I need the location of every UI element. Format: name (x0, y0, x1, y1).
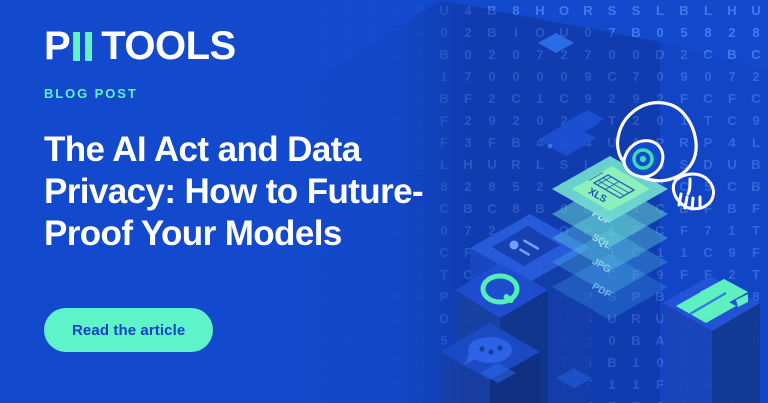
grid-char: P (696, 132, 720, 154)
grid-char: B (648, 154, 672, 176)
grid-char: 8 (0, 66, 24, 88)
card-stack-icon (538, 110, 604, 156)
grid-char: F (696, 264, 720, 286)
grid-char: 1 (600, 220, 624, 242)
grid-char: C (576, 242, 600, 264)
grid-char: 1 (600, 242, 624, 264)
grid-char: L (696, 0, 720, 22)
grid-char: 0 (648, 352, 672, 374)
grid-char: 2 (720, 374, 744, 396)
grid-char: B (600, 352, 624, 374)
grid-char: B (528, 330, 552, 352)
grid-char: P (528, 286, 552, 308)
grid-char: R (0, 22, 24, 44)
grid-char: 1 (672, 242, 696, 264)
grid-char: C (600, 66, 624, 88)
grid-char: O (528, 22, 552, 44)
grid-char: 4 (0, 154, 24, 176)
grid-char: 4 (576, 132, 600, 154)
grid-char: 2 (552, 396, 576, 403)
grid-char: L (696, 0, 720, 22)
grid-char: 0 (648, 66, 672, 88)
grid-char: F (720, 88, 744, 110)
grid-char: 0 (648, 22, 672, 44)
grid-char: U (552, 22, 576, 44)
grid-char: 2 (552, 44, 576, 66)
grid-char: U (552, 22, 576, 44)
grid-char: 2 (528, 176, 552, 198)
grid-char: P (624, 286, 648, 308)
grid-char: R (672, 132, 696, 154)
grid-char: 0 (576, 22, 600, 44)
wallet-icon (676, 279, 748, 323)
grid-char: B (624, 22, 648, 44)
grid-char: S (672, 154, 696, 176)
grid-char: 4 (600, 154, 624, 176)
grid-char: 7 (720, 66, 744, 88)
grid-char: R (672, 132, 696, 154)
grid-char: L (576, 154, 600, 176)
grid-char: 2 (696, 308, 720, 330)
grid-char: L (624, 154, 648, 176)
grid-char: 7 (0, 264, 24, 286)
grid-char: F (672, 396, 696, 403)
grid-char: 9 (720, 242, 744, 264)
grid-char: C (696, 88, 720, 110)
grid-char: B (624, 330, 648, 352)
grid-char: 1 (648, 242, 672, 264)
grid-char: 9 (720, 242, 744, 264)
magnifier-lens (624, 141, 663, 177)
grid-char: 9 (624, 88, 648, 110)
grid-char: B (672, 374, 696, 396)
grid-char: F (696, 264, 720, 286)
grid-char: 1 (672, 110, 696, 132)
grid-char: A (624, 132, 648, 154)
grid-char: T (696, 110, 720, 132)
grid-char: F (744, 198, 768, 220)
grid-char: S (624, 0, 648, 22)
grid-char: P (576, 286, 600, 308)
grid-char: T (576, 374, 600, 396)
grid-char: 0 (552, 66, 576, 88)
grid-char: C (648, 220, 672, 242)
grid-char: 1 (552, 352, 576, 374)
grid-char: U (720, 154, 744, 176)
grid-char: 4 (528, 132, 552, 154)
grid-char: 3 (0, 198, 24, 220)
grid-char: 0 (648, 110, 672, 132)
grid-char: P (576, 220, 600, 242)
grid-char: U (744, 0, 768, 22)
grid-char: B (648, 286, 672, 308)
grid-char: 7 (528, 44, 552, 66)
grid-char: T (576, 396, 600, 403)
grid-char: C (720, 176, 744, 198)
grid-char: 2 (0, 242, 24, 264)
grid-char: B (0, 0, 24, 22)
grid-char: P (648, 132, 672, 154)
grid-char: 0 (696, 66, 720, 88)
grid-char: B (720, 308, 744, 330)
grid-char: 7 (0, 88, 24, 110)
grid-char: 0 (600, 44, 624, 66)
grid-char: B (624, 22, 648, 44)
grid-char: S (552, 176, 576, 198)
grid-char: 2 (720, 264, 744, 286)
grid-char: 0 (648, 110, 672, 132)
grid-char: O (552, 220, 576, 242)
grid-char: 9 (672, 66, 696, 88)
grid-char: C (672, 176, 696, 198)
grid-char: S (600, 0, 624, 22)
grid-char: B (600, 176, 624, 198)
grid-char: 8 (696, 22, 720, 44)
grid-char: F (624, 220, 648, 242)
grid-char: C (624, 242, 648, 264)
grid-char: S (624, 0, 648, 22)
grid-char: 0 (600, 330, 624, 352)
grid-char: F (672, 264, 696, 286)
grid-char: 4 (576, 132, 600, 154)
grid-char: T (600, 110, 624, 132)
grid-char: 0 (0, 374, 24, 396)
grid-char: 1 (0, 110, 24, 132)
grid-char: C (528, 396, 552, 403)
grid-char: C (696, 242, 720, 264)
grid-char: 9 (576, 66, 600, 88)
grid-char: F (0, 286, 24, 308)
grid-char: 0 (696, 330, 720, 352)
grid-char: B (672, 330, 696, 352)
grid-char: F (672, 220, 696, 242)
file-card-label-2: PDF (590, 208, 613, 228)
grid-char: B (720, 44, 744, 66)
grid-char: R (576, 0, 600, 22)
grid-char: C (648, 220, 672, 242)
grid-char: 2 (744, 396, 768, 403)
grid-char: 1 (600, 220, 624, 242)
grid-char: B (744, 176, 768, 198)
grid-char: 0 (744, 352, 768, 374)
grid-char: L (576, 154, 600, 176)
grid-char: C (576, 176, 600, 198)
grid-char: D (648, 44, 672, 66)
grid-char: 8 (576, 352, 600, 374)
grid-char: 1 (0, 396, 24, 403)
grid-char: S (0, 220, 24, 242)
grid-char: C (720, 176, 744, 198)
grid-char: F (648, 374, 672, 396)
grid-char: P (576, 286, 600, 308)
grid-char: F (744, 198, 768, 220)
grid-char: F (720, 88, 744, 110)
grid-char: 2 (720, 264, 744, 286)
grid-char: 1 (672, 242, 696, 264)
grid-char: C (600, 264, 624, 286)
grid-char: U (600, 308, 624, 330)
grid-char: F (0, 286, 24, 308)
grid-char: O (0, 330, 24, 352)
grid-char: 1 (600, 374, 624, 396)
grid-char: 0 (0, 374, 24, 396)
grid-char: 4 (576, 308, 600, 330)
grid-char: 1 (0, 396, 24, 403)
grid-char: C (696, 44, 720, 66)
grid-char: 7 (576, 44, 600, 66)
grid-char: B (720, 198, 744, 220)
grid-char: P (624, 286, 648, 308)
grid-char: B (528, 308, 552, 330)
page-title: The AI Act and Data Privacy: How to Futu… (44, 129, 474, 255)
grid-char: U (552, 308, 576, 330)
grid-char: C (600, 264, 624, 286)
grid-char: F (624, 220, 648, 242)
logo-bars-icon (73, 32, 92, 61)
grid-char: F (600, 396, 624, 403)
grid-char: 7 (576, 44, 600, 66)
grid-char: L (528, 154, 552, 176)
grid-char: 0 (696, 330, 720, 352)
file-card-label-5: PDF (590, 281, 613, 301)
grid-char: C (720, 110, 744, 132)
grid-char: 0 (552, 132, 576, 154)
grid-char: 9 (576, 88, 600, 110)
grid-char: 7 (696, 220, 720, 242)
grid-char: 7 (528, 264, 552, 286)
grid-char: 1 (576, 264, 600, 286)
grid-char: 2 (552, 110, 576, 132)
grid-char: 1 (600, 242, 624, 264)
grid-char: 5 (672, 22, 696, 44)
grid-char: F (672, 396, 696, 403)
grid-char: B (624, 330, 648, 352)
grid-char: F (744, 242, 768, 264)
grid-char: 2 (744, 66, 768, 88)
grid-char: 5 (696, 176, 720, 198)
grid-char: R (624, 308, 648, 330)
grid-char: 4 (576, 308, 600, 330)
grid-char: T (744, 220, 768, 242)
grid-char: 1 (648, 242, 672, 264)
grid-char: 0 (528, 66, 552, 88)
grid-char: T (600, 110, 624, 132)
grid-char: 4 (696, 286, 720, 308)
grid-char: C (624, 242, 648, 264)
grid-char: 1 (624, 198, 648, 220)
grid-char: 4 (696, 286, 720, 308)
grid-char: 9 (576, 88, 600, 110)
grid-char: 4 (0, 154, 24, 176)
grid-char: D (576, 198, 600, 220)
pii-tools-logo[interactable]: P TOOLS (44, 26, 514, 66)
grid-char: 1 (672, 352, 696, 374)
grid-char: S (600, 286, 624, 308)
grid-char: 2 (576, 330, 600, 352)
grid-char: C (696, 242, 720, 264)
grid-char: 8 (744, 22, 768, 44)
grid-char: 7 (0, 352, 24, 374)
grid-char: B (528, 198, 552, 220)
grid-char: C (552, 330, 576, 352)
grid-char: 7 (696, 220, 720, 242)
grid-char: 4 (528, 132, 552, 154)
grid-char: L (744, 132, 768, 154)
grid-char: B (720, 198, 744, 220)
grid-char: 0 (744, 330, 768, 352)
grid-char: 5 (672, 22, 696, 44)
file-card-label-3: SQL (590, 232, 613, 252)
grid-char: P (696, 132, 720, 154)
grid-char: 5 (0, 44, 24, 66)
grid-char: F (528, 242, 552, 264)
grid-char: 5 (0, 176, 24, 198)
grid-char: 0 (528, 110, 552, 132)
grid-char: 4 (720, 132, 744, 154)
grid-char: 2 (696, 308, 720, 330)
grid-char: 9 (672, 66, 696, 88)
grid-char: 7 (624, 66, 648, 88)
grid-char: 2 (600, 88, 624, 110)
grid-char: P (576, 220, 600, 242)
grid-char: F (624, 264, 648, 286)
grid-char: D (576, 198, 600, 220)
grid-char: 9 (744, 110, 768, 132)
grid-char: C (696, 44, 720, 66)
grid-char: 0 (648, 22, 672, 44)
grid-char: B (744, 154, 768, 176)
grid-char: T (624, 396, 648, 403)
grid-char: 2 (672, 44, 696, 66)
grid-char: 2 (648, 396, 672, 403)
grid-char: U (744, 0, 768, 22)
grid-char: U (552, 308, 576, 330)
grid-char: 1 (624, 374, 648, 396)
grid-char: 2 (672, 44, 696, 66)
grid-char: 0 (672, 308, 696, 330)
grid-char: T (624, 396, 648, 403)
grid-char: A (624, 132, 648, 154)
grid-char: 1 (600, 374, 624, 396)
grid-char: B (672, 374, 696, 396)
grid-char: F (624, 264, 648, 286)
grid-char: 2 (600, 88, 624, 110)
grid-char: 5 (0, 176, 24, 198)
grid-char: C (552, 330, 576, 352)
grid-char: S (0, 220, 24, 242)
spreadsheet-grid-icon (589, 173, 634, 199)
grid-char: 1 (720, 220, 744, 242)
grid-char: 2 (552, 396, 576, 403)
grid-char: 2 (552, 44, 576, 66)
grid-char: B (672, 330, 696, 352)
grid-char: 1 (672, 352, 696, 374)
grid-char: 8 (744, 22, 768, 44)
grid-char: C (600, 66, 624, 88)
grid-char: S (600, 286, 624, 308)
grid-char: F (600, 396, 624, 403)
grid-char: F (672, 220, 696, 242)
grid-char: 0 (672, 308, 696, 330)
file-card-label-4: JPG (590, 256, 613, 276)
grid-char: A (552, 286, 576, 308)
grid-char: F (0, 132, 24, 154)
grid-char: D (696, 154, 720, 176)
grid-char: 0 (600, 330, 624, 352)
grid-char: B (600, 352, 624, 374)
grid-char: 0 (744, 330, 768, 352)
grid-char: 1 (576, 264, 600, 286)
grid-char: F (552, 264, 576, 286)
grid-char: 9 (552, 242, 576, 264)
grid-char: 2 (528, 176, 552, 198)
grid-char: C (744, 88, 768, 110)
grid-char: C (648, 198, 672, 220)
grid-char: 9 (720, 396, 744, 403)
grid-char: U (600, 132, 624, 154)
grid-char: L (648, 0, 672, 22)
grid-char: 1 (672, 110, 696, 132)
grid-char: 1 (0, 110, 24, 132)
grid-char: 5 (696, 176, 720, 198)
grid-char: C (744, 374, 768, 396)
grid-char: 2 (552, 110, 576, 132)
grid-char: H (720, 0, 744, 22)
grid-char: O (552, 0, 576, 22)
grid-char: F (672, 88, 696, 110)
grid-char: 0 (696, 66, 720, 88)
grid-char: 4 (720, 132, 744, 154)
grid-char: C (720, 110, 744, 132)
grid-char: B (744, 154, 768, 176)
grid-char: 7 (696, 352, 720, 374)
grid-char: C (744, 374, 768, 396)
grid-char: O (552, 0, 576, 22)
grid-char: B (528, 308, 552, 330)
grid-char: B (720, 286, 744, 308)
grid-char: B (672, 0, 696, 22)
grid-char: C (696, 88, 720, 110)
grid-char: 1 (624, 352, 648, 374)
grid-char: S (552, 154, 576, 176)
grid-char: B (744, 176, 768, 198)
grid-char: 7 (0, 264, 24, 286)
grid-char: S (600, 0, 624, 22)
grid-char: 2 (720, 374, 744, 396)
grid-char: T (744, 220, 768, 242)
file-card-label-1: XLS (586, 186, 609, 205)
grid-char: 2 (0, 242, 24, 264)
grid-char: L (624, 154, 648, 176)
grid-char: T (696, 110, 720, 132)
grid-char: A (648, 330, 672, 352)
grid-char: 7 (600, 22, 624, 44)
blog-post-banner: B404UAPRP4L4PAPSPBU4B8HORSSLBLHURLSL4LBS… (0, 0, 768, 403)
grid-char: O (552, 220, 576, 242)
grid-char: 0 (552, 66, 576, 88)
grid-char: S (552, 154, 576, 176)
grid-char: F (648, 374, 672, 396)
grid-char: B (720, 286, 744, 308)
grid-char: C (552, 88, 576, 110)
grid-char: 5 (0, 44, 24, 66)
grid-char: H (720, 0, 744, 22)
grid-char: F (672, 264, 696, 286)
grid-char: 7 (528, 264, 552, 286)
grid-char: O (0, 330, 24, 352)
read-the-article-button[interactable]: Read the article (44, 308, 213, 352)
file-card-stack: PDF JPG SQL PDF (552, 156, 668, 320)
